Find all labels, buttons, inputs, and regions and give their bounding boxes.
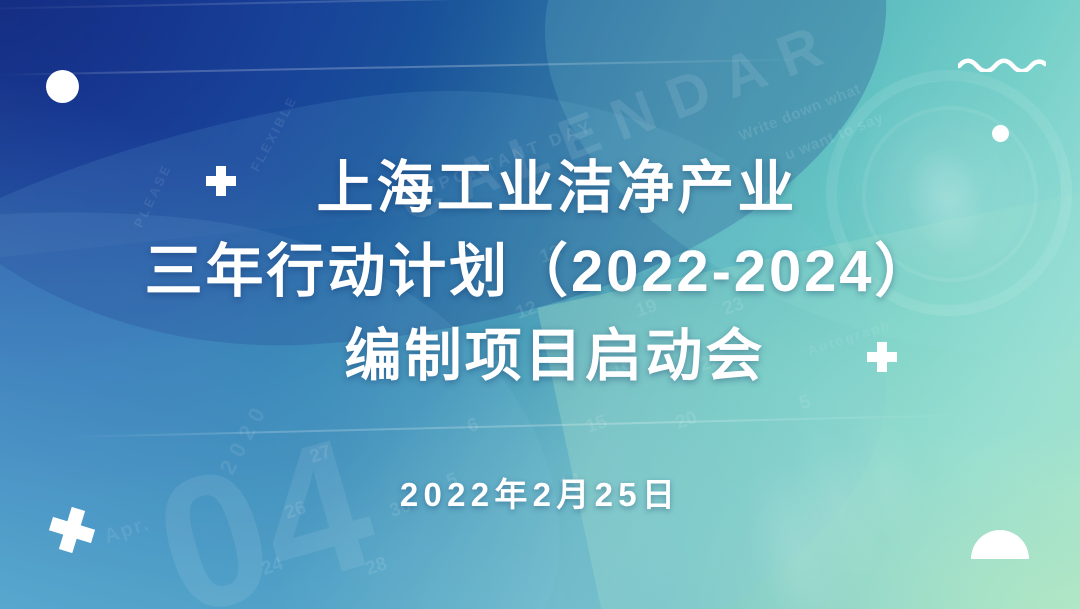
event-date: 2022年2月25日 xyxy=(0,468,1080,516)
title-line-1: 上海工业洁净产业 xyxy=(0,146,1080,230)
event-banner: CALENDAR IMPORTANT DAY 04 2020 Apr. Writ… xyxy=(0,0,1080,609)
title-line-3: 编制项目启动会 xyxy=(0,314,1080,398)
banner-content: 上海工业洁净产业 三年行动计划（2022-2024） 编制项目启动会 2022年… xyxy=(0,0,1080,609)
page-title: 上海工业洁净产业 三年行动计划（2022-2024） 编制项目启动会 xyxy=(0,146,1080,398)
title-line-2: 三年行动计划（2022-2024） xyxy=(0,230,1080,314)
